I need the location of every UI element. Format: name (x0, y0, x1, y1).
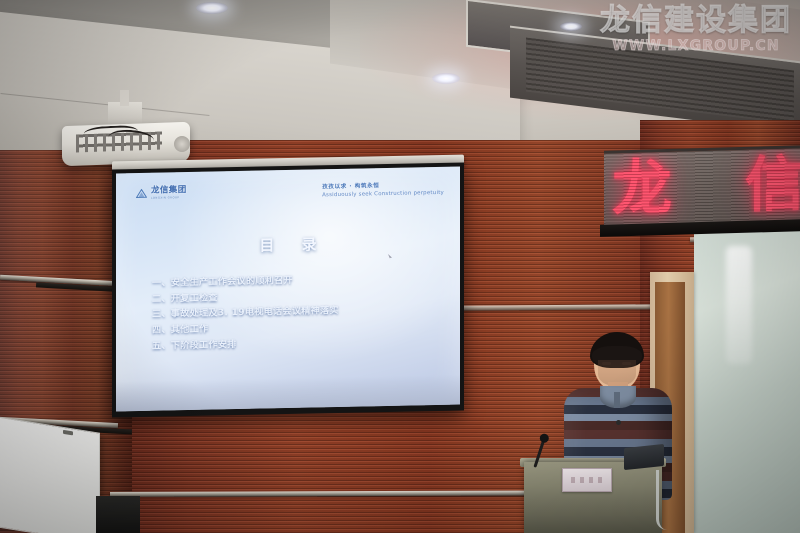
led-sign-text: 龙 信 (612, 145, 800, 230)
equipment-case (96, 496, 140, 533)
slide-logo: 龙信集团 LONGXIN GROUP (136, 186, 187, 200)
slide-tagline: 孜孜以求 · 构筑永恒 Assiduously seek Constructio… (322, 182, 444, 199)
slide-logo-name-cn: 龙信集团 (151, 186, 187, 195)
podium-name-sign (562, 468, 612, 492)
downlight-icon-1 (432, 73, 460, 84)
laptop[interactable] (624, 444, 664, 470)
slide-logo-name-en: LONGXIN GROUP (151, 197, 187, 200)
speaker-eye-left (602, 362, 611, 365)
conference-room-photo: 龙 信 龙信集团 LONGXIN GROUP (0, 0, 800, 533)
mountain-triangle-icon (136, 189, 147, 198)
downlight-icon-2 (196, 2, 228, 14)
whiteboard-clip (63, 430, 73, 436)
whiteboard-panel (0, 415, 100, 533)
led-sign-board: 龙 信 (604, 145, 800, 232)
podium-cable (656, 470, 667, 530)
projector-lens (174, 136, 190, 152)
speaker-button (616, 420, 621, 425)
projector-pole (120, 90, 129, 106)
speaker-eye-right (622, 362, 631, 365)
slide-agenda-list: 一、安全生产工作会议的顺利召开 二、开复工检查 三、事故处理及3. 19电视电话… (152, 271, 446, 355)
podium (524, 462, 662, 533)
slide-title: 目 录 (116, 231, 460, 259)
glass-reflection (726, 246, 752, 364)
mouse-cursor-icon (388, 254, 392, 260)
speaker-collar (600, 386, 636, 408)
presentation-slide: 龙信集团 LONGXIN GROUP 孜孜以求 · 构筑永恒 Assiduous… (116, 167, 460, 412)
downlight-icon-3 (560, 22, 582, 31)
